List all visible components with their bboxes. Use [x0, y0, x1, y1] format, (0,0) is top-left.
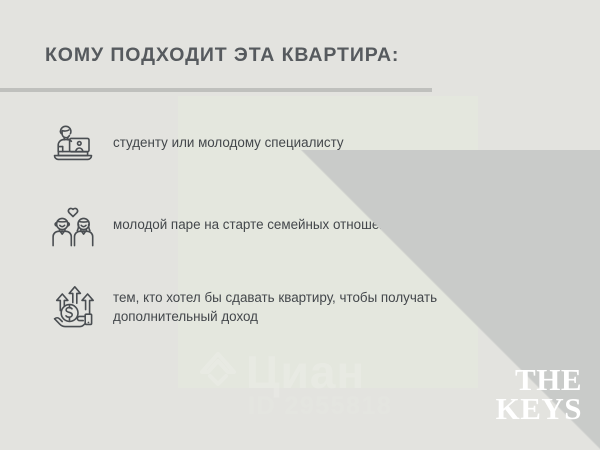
list-item-label: тем, кто хотел бы сдавать квартиру, чтоб…: [113, 282, 533, 326]
cian-listing-id: ID 2955818: [248, 392, 392, 421]
list-item: студенту или молодому специалисту: [45, 118, 545, 174]
list-item: тем, кто хотел бы сдавать квартиру, чтоб…: [45, 282, 545, 338]
couple-with-heart-icon: [45, 200, 101, 256]
the-keys-logo: THE KEYS: [496, 365, 582, 425]
student-at-computer-icon: [45, 118, 101, 174]
listing-slide: КОМУ ПОДХОДИТ ЭТА КВАРТИРА:: [0, 0, 600, 450]
list-item: молодой паре на старте семейных отношени…: [45, 200, 545, 256]
logo-line-2: KEYS: [496, 394, 582, 424]
money-growth-in-hand-icon: [45, 282, 101, 338]
logo-line-1: THE: [496, 365, 582, 395]
title-divider: [0, 88, 432, 92]
list-item-label: студенту или молодому специалисту: [113, 118, 344, 152]
page-title: КОМУ ПОДХОДИТ ЭТА КВАРТИРА:: [45, 44, 399, 67]
benefit-list: студенту или молодому специалисту: [45, 118, 545, 364]
list-item-label: молодой паре на старте семейных отношени…: [113, 200, 402, 234]
